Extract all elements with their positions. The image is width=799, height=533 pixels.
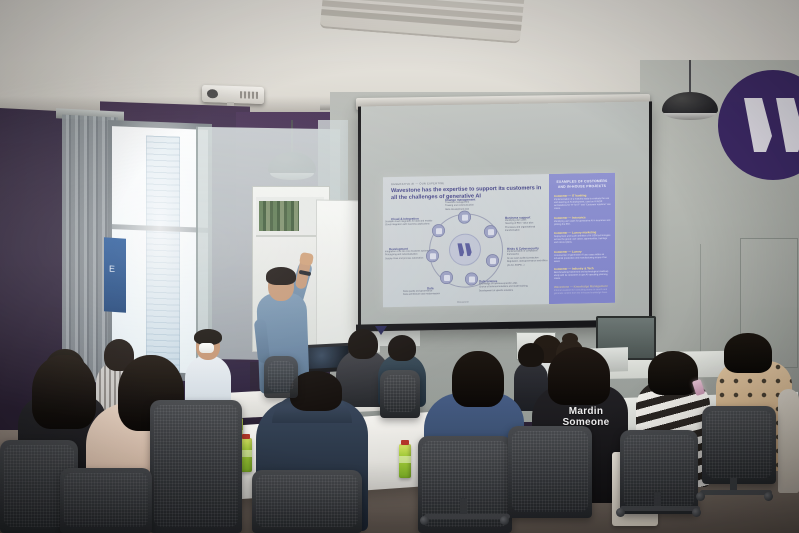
lamp-cord xyxy=(689,60,691,94)
attendee-hair xyxy=(518,343,544,367)
chair-mesh-back xyxy=(268,361,294,392)
conference-room-photo: E y GENERATIVE AI — OUR EXPERTISE Wavest… xyxy=(0,0,799,533)
presenter-hair xyxy=(266,267,296,285)
drink-carton xyxy=(399,444,411,478)
chair-mesh-back xyxy=(256,475,358,527)
bullet: Regulation, data governance and ethics (… xyxy=(507,260,549,268)
drink-cap xyxy=(242,434,250,439)
case-text: Implementation of a maturity study to ev… xyxy=(554,197,611,211)
chair-caster xyxy=(692,508,701,517)
shirt-graphic-text: Mardin Someone xyxy=(552,407,620,428)
wavestone-w-hub-icon xyxy=(457,242,474,256)
chair-caster xyxy=(696,492,705,501)
projector-vent-icon xyxy=(240,91,258,99)
example-case: Customer — Insurance Identifying use cas… xyxy=(554,215,611,227)
example-case: Customer — Luxury Construction of genera… xyxy=(554,249,611,264)
office-chair[interactable] xyxy=(380,370,420,418)
office-chair[interactable] xyxy=(252,470,362,533)
attendee-hair xyxy=(452,351,504,407)
face-mask xyxy=(199,343,214,353)
hair-bun xyxy=(562,333,578,345)
example-case: Customer — Luxury marketing Deployment a… xyxy=(554,230,611,245)
chair-base xyxy=(700,490,772,495)
example-case: Customer — Industry & Tech Benchmarking … xyxy=(554,266,611,281)
segment-bullets-risks-cybersecurity: Implementation of compliance frameworks … xyxy=(507,250,549,268)
attendee-hair xyxy=(348,329,378,359)
chair-mesh-back xyxy=(154,405,238,527)
attendee-torso xyxy=(778,389,799,493)
drink-label xyxy=(399,456,411,463)
case-text: Benchmarking framework and technological… xyxy=(554,270,611,281)
chair-mesh-back xyxy=(64,473,148,527)
exit-sign-label: E xyxy=(109,264,115,274)
slide-footer: Wavestone xyxy=(457,301,469,304)
chair-mesh-back xyxy=(706,411,772,478)
projector-lens-icon xyxy=(207,89,218,98)
attendee-hair xyxy=(32,355,96,429)
books-on-shelf xyxy=(259,201,299,231)
example-case: Wavestone — Knowledge Management Interna… xyxy=(554,284,611,296)
slide-examples-panel: Examples of customers and in-house proje… xyxy=(549,173,615,304)
ac-louvre-icon xyxy=(324,0,525,4)
case-text: Internal assistant for consulting teams … xyxy=(554,288,611,296)
office-chair[interactable] xyxy=(60,468,152,533)
chair-mesh-back xyxy=(512,431,588,512)
attendee-hair xyxy=(724,333,772,373)
bullet: Processes and organisational transformat… xyxy=(505,226,549,234)
capability-wheel xyxy=(429,213,501,286)
segment-bullets-cloud-integration: Scalable cloud integration for data and … xyxy=(385,220,437,228)
office-chair[interactable] xyxy=(150,400,242,533)
chair-caster xyxy=(500,516,509,525)
segment-bullets-data: Data quality and governance Data archite… xyxy=(403,290,465,298)
segment-bullets-development: Integration of AI into core business sys… xyxy=(385,250,435,261)
pendant-lamp-right xyxy=(662,60,718,130)
chair-caster xyxy=(764,492,773,501)
segment-bullets-change-management: Transition management Training and commu… xyxy=(445,201,503,212)
lamp-rim xyxy=(664,113,716,120)
case-text: Identifying use cases for generative AI … xyxy=(554,219,611,227)
case-text: Construction of generative AI use cases … xyxy=(554,253,611,264)
office-chair[interactable] xyxy=(264,356,298,398)
attendee-hair xyxy=(648,351,698,395)
office-chair[interactable] xyxy=(508,426,592,518)
segment-bullets-business-support: Identifying use cases Steering of ROI / … xyxy=(505,219,549,233)
chair-caster xyxy=(616,508,625,517)
projected-slide: GENERATIVE AI — OUR EXPERTISE Wavestone … xyxy=(383,173,615,307)
chair-caster xyxy=(420,516,429,525)
chair-base xyxy=(620,506,700,511)
attendee-hair xyxy=(548,347,610,405)
examples-panel-heading: Examples of customers and in-house proje… xyxy=(554,179,610,189)
drink-cap xyxy=(401,440,409,445)
chair-mesh-back xyxy=(384,375,416,412)
presenter-hand xyxy=(299,252,314,266)
attendee-hair xyxy=(388,335,416,361)
example-case: Customer — IT banking Implementation of … xyxy=(554,193,611,211)
exit-sign: E xyxy=(104,237,126,313)
office-chair[interactable] xyxy=(702,406,776,484)
case-text: Deployment and scale ambition of AI GEN … xyxy=(554,234,611,245)
segment-bullets-data-science: Knowledge of business-specific LLMs Choi… xyxy=(479,282,545,293)
chair-base xyxy=(424,514,510,519)
wavestone-w-logo-icon xyxy=(742,96,799,154)
